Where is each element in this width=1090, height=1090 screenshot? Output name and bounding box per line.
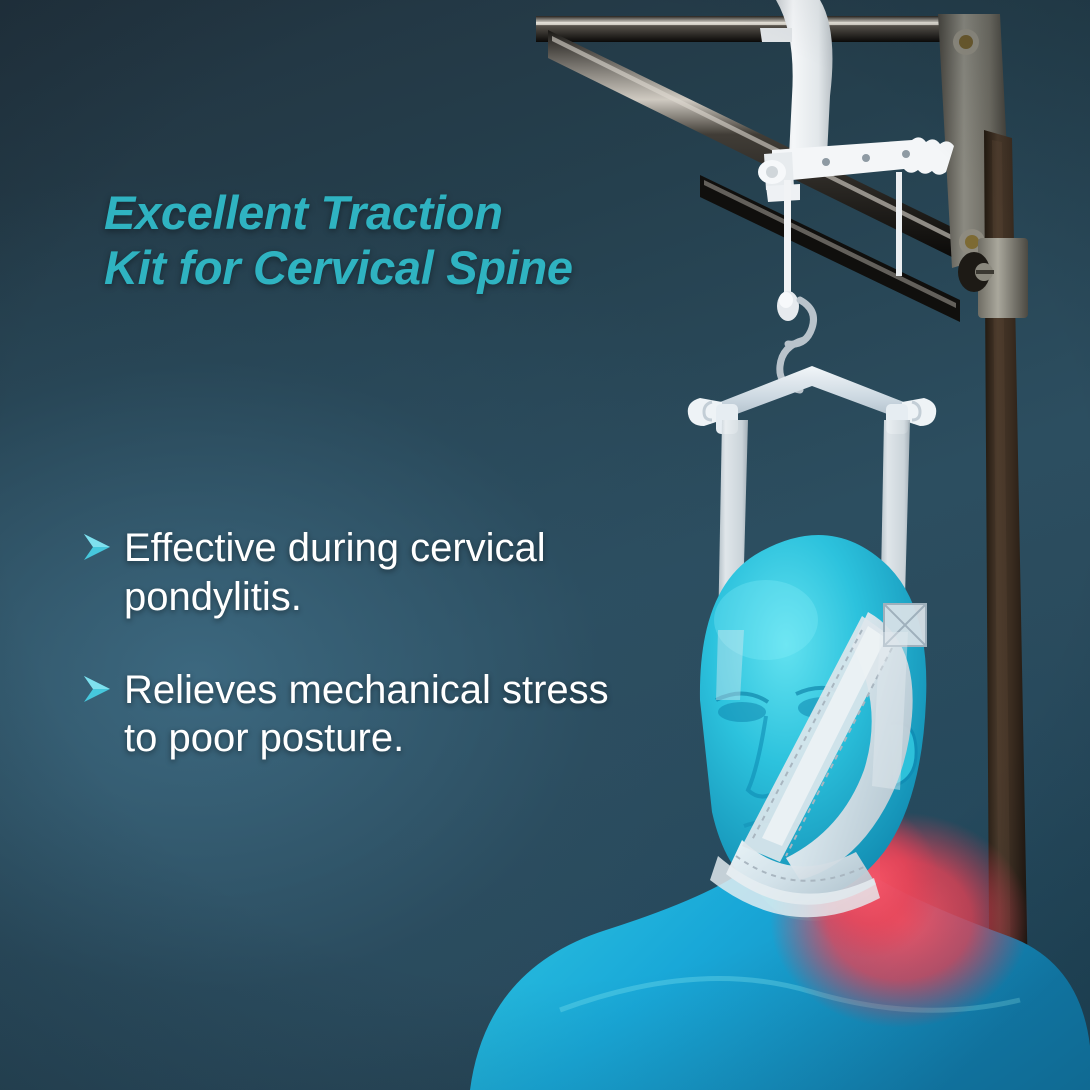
product-banner: Excellent Traction Kit for Cervical Spin… (0, 0, 1090, 1090)
feature-list: Effective during cervical pondylitis. Re… (80, 524, 720, 807)
list-item-label: Relieves mechanical stress to poor postu… (124, 666, 609, 764)
frame-lower-brace (700, 175, 960, 322)
frame-horizontal-bar (536, 16, 960, 42)
list-item: Effective during cervical pondylitis. (80, 524, 720, 622)
list-item: Relieves mechanical stress to poor postu… (80, 666, 720, 764)
cord-knot (777, 291, 799, 321)
arrowhead-bullet-icon (80, 672, 114, 714)
arrowhead-bullet-icon (80, 530, 114, 572)
page-title: Excellent Traction Kit for Cervical Spin… (104, 186, 724, 296)
list-item-label: Effective during cervical pondylitis. (124, 524, 546, 622)
